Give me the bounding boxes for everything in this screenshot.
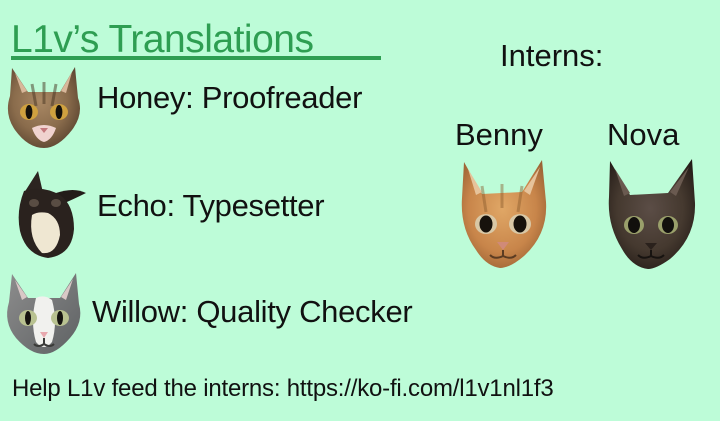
title-underline (11, 56, 381, 60)
staff-row-willow: Willow: Quality Checker (92, 294, 412, 330)
interns-heading: Interns: (500, 38, 603, 74)
cat-head-orange-kitten-icon (456, 158, 552, 270)
support-link-text[interactable]: Help L1v feed the interns: https://ko-fi… (12, 375, 554, 403)
staff-row-honey: Honey: Proofreader (97, 80, 362, 116)
cat-head-brown-tabby-icon (2, 62, 86, 150)
intern-name-nova: Nova (607, 117, 679, 153)
credits-page: L1v’s Translations (0, 0, 720, 421)
staff-row-echo: Echo: Typesetter (97, 188, 324, 224)
cat-head-grey-white-icon (0, 268, 88, 358)
cat-head-black-kitten-icon (604, 155, 700, 271)
intern-name-benny: Benny (455, 117, 543, 153)
cat-head-tuxedo-icon (4, 163, 90, 263)
